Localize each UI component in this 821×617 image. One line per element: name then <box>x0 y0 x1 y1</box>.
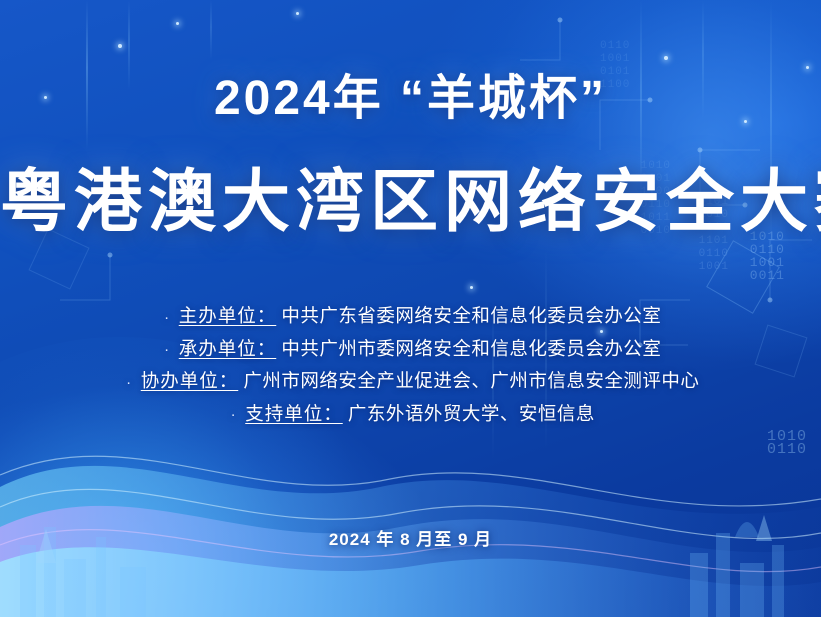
light-streak <box>210 0 212 60</box>
bullet-icon: · <box>226 399 240 430</box>
organizer-value: 广州市网络安全产业促进会、广州市信息安全测评中心 <box>243 370 699 391</box>
organizer-label: 支持单位： <box>245 403 343 424</box>
poster-image: 1010 0110 1001 0011 0101 1010 0011 1101 … <box>0 0 821 617</box>
organizer-label: 主办单位： <box>179 305 277 326</box>
organizer-list: · 主办单位： 中共广东省委网络安全和信息化委员会办公室 · 承办单位： 中共广… <box>0 300 821 430</box>
list-item: · 承办单位： 中共广州市委网络安全和信息化委员会办公室 <box>0 333 821 366</box>
organizer-value: 广东外语外贸大学、安恒信息 <box>348 403 595 424</box>
title-line-2: 粤港澳大湾区网络安全大赛 <box>0 146 821 245</box>
bullet-icon: · <box>122 367 136 398</box>
event-date: 2024 年 8 月至 9 月 <box>0 525 821 550</box>
code-column-4: 1010 0110 <box>767 430 807 456</box>
organizer-value: 中共广州市委网络安全和信息化委员会办公室 <box>281 338 661 359</box>
bullet-icon: · <box>160 334 174 365</box>
poster-title-block: 2024年 “羊城杯” 粤港澳大湾区网络安全大赛 <box>0 58 821 245</box>
glow-dot <box>118 44 122 48</box>
list-item: · 支持单位： 广东外语外贸大学、安恒信息 <box>0 398 821 431</box>
list-item: · 协办单位： 广州市网络安全产业促进会、广州市信息安全测评中心 <box>0 365 821 398</box>
glow-dot <box>176 22 179 25</box>
glow-dot <box>296 12 299 15</box>
organizer-label: 承办单位： <box>179 338 277 359</box>
organizer-label: 协办单位： <box>141 370 239 391</box>
list-item: · 主办单位： 中共广东省委网络安全和信息化委员会办公室 <box>0 300 821 333</box>
organizer-value: 中共广东省委网络安全和信息化委员会办公室 <box>281 305 661 326</box>
bullet-icon: · <box>160 302 174 333</box>
glow-dot <box>470 286 473 289</box>
title-line-1: 2024年 “羊城杯” <box>0 58 821 128</box>
